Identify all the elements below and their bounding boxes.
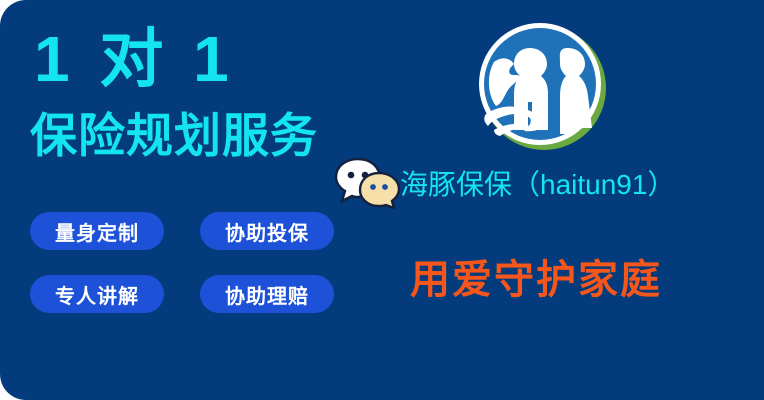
promo-banner: 1 对 1 保险规划服务 量身定制 协助投保 专人讲解 协助理赔 xyxy=(0,0,764,400)
wechat-icon xyxy=(334,157,402,209)
wechat-contact-row: 海豚保保（haitun91） xyxy=(334,157,764,209)
feature-pill-expert-explain[interactable]: 专人讲解 xyxy=(30,275,164,313)
right-content-column: 海豚保保（haitun91） 用爱守护家庭 xyxy=(382,0,764,400)
feature-pill-claim-help[interactable]: 协助理赔 xyxy=(200,275,334,313)
left-content-column: 1 对 1 保险规划服务 量身定制 协助投保 专人讲解 协助理赔 xyxy=(0,0,382,400)
headline-primary: 1 对 1 xyxy=(34,27,235,91)
headline-secondary: 保险规划服务 xyxy=(30,112,318,159)
feature-pill-grid: 量身定制 协助投保 专人讲解 协助理赔 xyxy=(30,212,340,313)
tagline-text: 用爱守护家庭 xyxy=(410,247,662,305)
feature-pill-apply-help[interactable]: 协助投保 xyxy=(200,212,334,250)
feature-pill-custom[interactable]: 量身定制 xyxy=(30,212,164,250)
globe-family-dolphin-logo-icon xyxy=(474,18,610,154)
wechat-handle: 海豚保保（haitun91） xyxy=(400,163,675,203)
